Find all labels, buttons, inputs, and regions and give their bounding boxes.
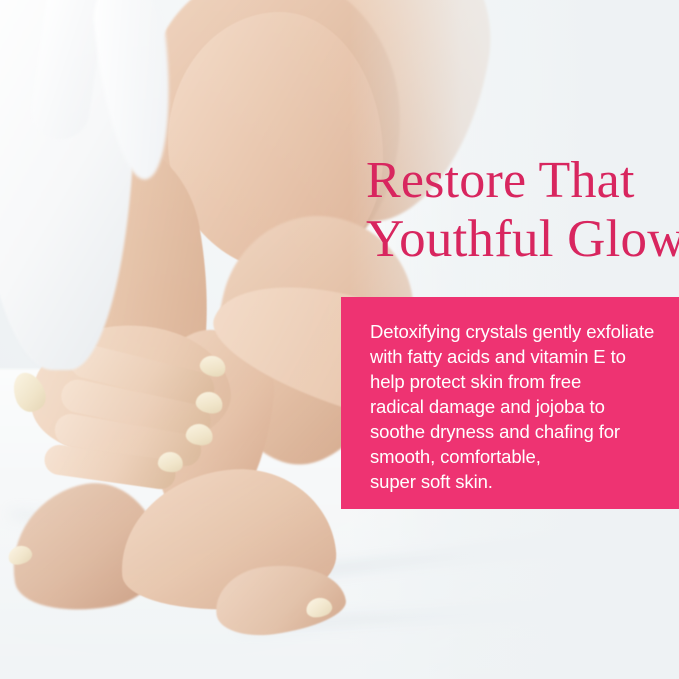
- headline-line-1: Restore That: [366, 152, 676, 210]
- copy-line: with fatty acids and vitamin E to: [370, 344, 663, 369]
- copy-line: soothe dryness and chafing for: [370, 419, 663, 444]
- product-ad-canvas: Restore That Youthful Glow Detoxifying c…: [0, 0, 679, 679]
- copy-line: help protect skin from free: [370, 369, 663, 394]
- headline-line-2: Youthful Glow: [366, 210, 676, 268]
- description-copy-block: Detoxifying crystals gently exfoliate wi…: [341, 297, 679, 509]
- copy-line: Detoxifying crystals gently exfoliate: [370, 319, 663, 344]
- copy-line: smooth, comfortable,: [370, 444, 663, 469]
- copy-line: super soft skin.: [370, 469, 663, 494]
- copy-line: radical damage and jojoba to: [370, 394, 663, 419]
- headline: Restore That Youthful Glow: [366, 152, 676, 268]
